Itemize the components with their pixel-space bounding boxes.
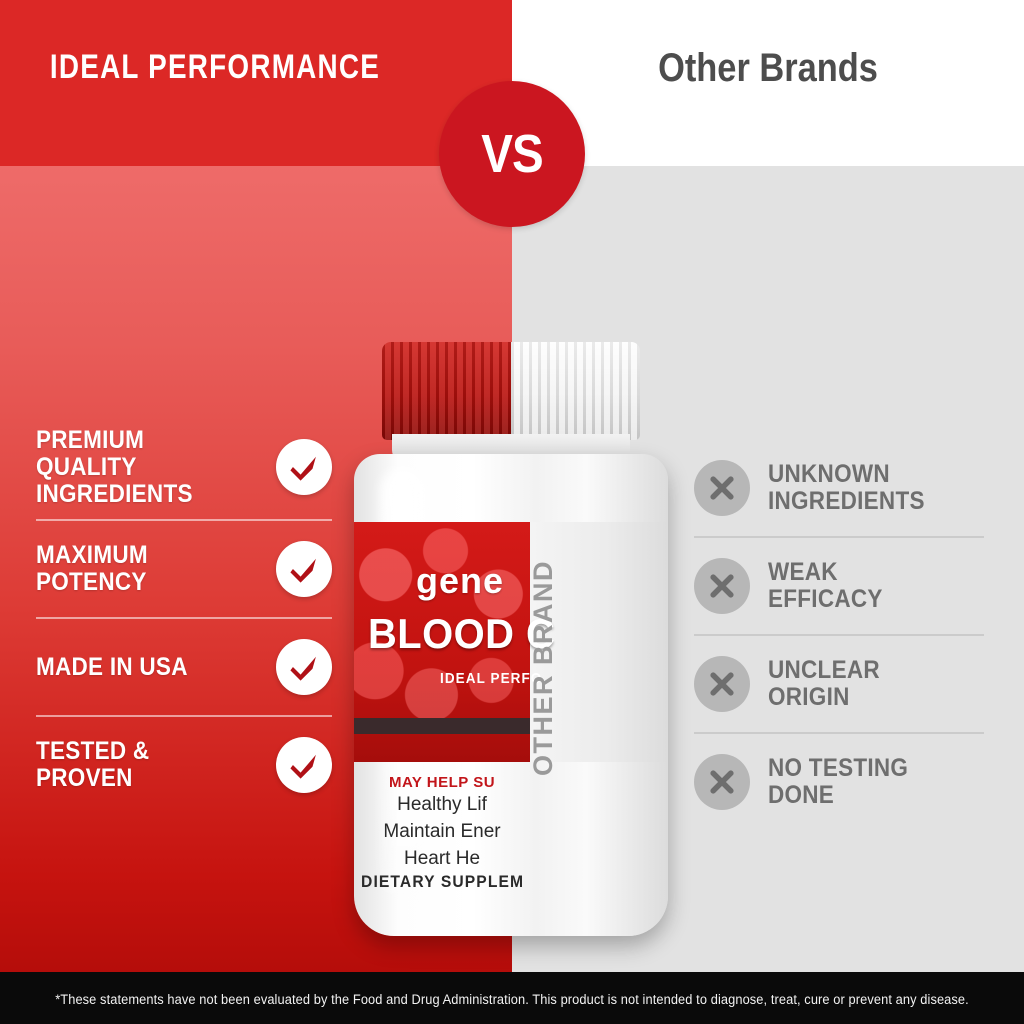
list-item: UNKNOWN INGREDIENTS <box>694 440 984 536</box>
check-icon <box>276 439 332 495</box>
vs-badge-label: VS <box>481 123 543 185</box>
list-item: UNCLEAR ORIGIN <box>694 636 984 732</box>
bottle-cap <box>382 342 640 440</box>
bottle-cap-left-half <box>382 342 511 440</box>
list-item: MADE IN USA <box>36 619 332 715</box>
label-dark-band <box>354 718 530 734</box>
right-feature-list: UNKNOWN INGREDIENTS WEAK EFFICACY UNCLEA… <box>694 440 984 830</box>
label-brand: gene <box>416 560 504 602</box>
right-item-label: WEAK EFFICACY <box>768 559 883 613</box>
check-icon <box>276 541 332 597</box>
cross-icon <box>694 558 750 614</box>
right-item-label: UNCLEAR ORIGIN <box>768 657 880 711</box>
product-bottle: gene BLOOD C IDEAL PERFO MAY HELP SU Hea… <box>338 330 684 942</box>
label-dietary-supplement: DIETARY SUPPLEM <box>361 872 523 892</box>
left-item-label: PREMIUM QUALITY INGREDIENTS <box>36 427 193 508</box>
check-icon <box>276 737 332 793</box>
right-header-title: Other Brands <box>548 46 988 91</box>
label-benefit: Heart He <box>354 845 530 872</box>
label-may-help: MAY HELP SU <box>354 774 530 791</box>
bottle-cap-right-half <box>511 342 640 440</box>
list-item: WEAK EFFICACY <box>694 538 984 634</box>
cross-icon <box>694 754 750 810</box>
left-feature-list: PREMIUM QUALITY INGREDIENTS MAXIMUM POTE… <box>36 415 332 813</box>
label-benefit: Maintain Ener <box>354 818 530 845</box>
left-item-label: TESTED & PROVEN <box>36 738 149 792</box>
list-item: MAXIMUM POTENCY <box>36 521 332 617</box>
label-benefits-block: MAY HELP SU Healthy Lif Maintain Ener He… <box>354 762 530 872</box>
left-item-label: MAXIMUM POTENCY <box>36 542 148 596</box>
footer-disclaimer: *These statements have not been evaluate… <box>26 992 999 1007</box>
other-brand-vertical-text: OTHER BRAND <box>528 560 559 776</box>
list-item: PREMIUM QUALITY INGREDIENTS <box>36 415 332 519</box>
left-header-title: IDEAL PERFORMANCE <box>39 48 392 87</box>
vs-badge: VS <box>439 81 585 227</box>
list-item: TESTED & PROVEN <box>36 717 332 813</box>
bottle-label: gene BLOOD C IDEAL PERFO <box>354 522 668 762</box>
check-icon <box>276 639 332 695</box>
left-item-label: MADE IN USA <box>36 654 188 681</box>
cross-icon <box>694 460 750 516</box>
right-item-label: NO TESTING DONE <box>768 755 908 809</box>
comparison-infographic: IDEAL PERFORMANCE Other Brands VS PREMIU… <box>0 0 1024 1024</box>
right-item-label: UNKNOWN INGREDIENTS <box>768 461 925 515</box>
label-benefit: Healthy Lif <box>354 791 530 818</box>
cross-icon <box>694 656 750 712</box>
list-item: NO TESTING DONE <box>694 734 984 830</box>
